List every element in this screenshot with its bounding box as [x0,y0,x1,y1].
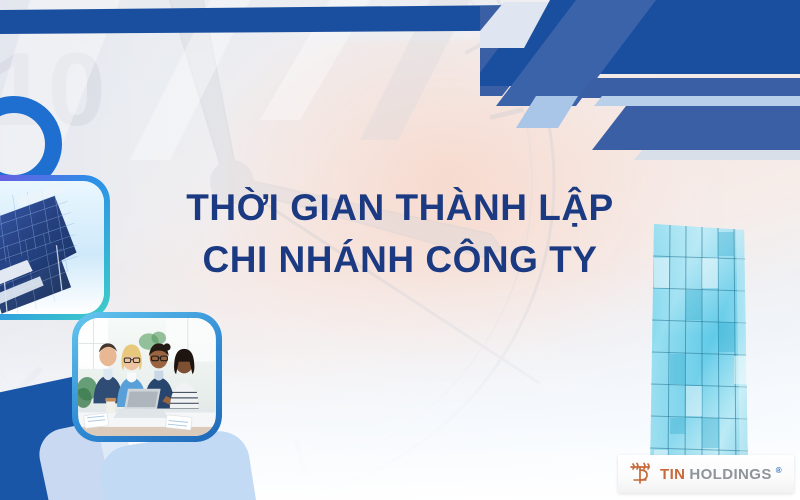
brand-logo-text: TIN HOLDINGS ® [660,467,782,482]
brand-name-holdings: HOLDINGS [689,467,771,482]
team-photo-illustration [78,318,216,436]
photo-card-building [0,175,110,320]
geometric-accent-group [480,0,800,160]
brand-logo[interactable]: TIN HOLDINGS ® [618,455,794,493]
photo-card-team [72,312,222,442]
glass-skyscraper [648,222,756,472]
registered-trademark-icon: ® [776,467,782,475]
tin-holdings-logo-mark [627,461,653,487]
building-photo-illustration [0,181,104,314]
brand-name-tin: TIN [660,467,685,482]
banner-root: 9 10 11 12 [0,0,800,500]
